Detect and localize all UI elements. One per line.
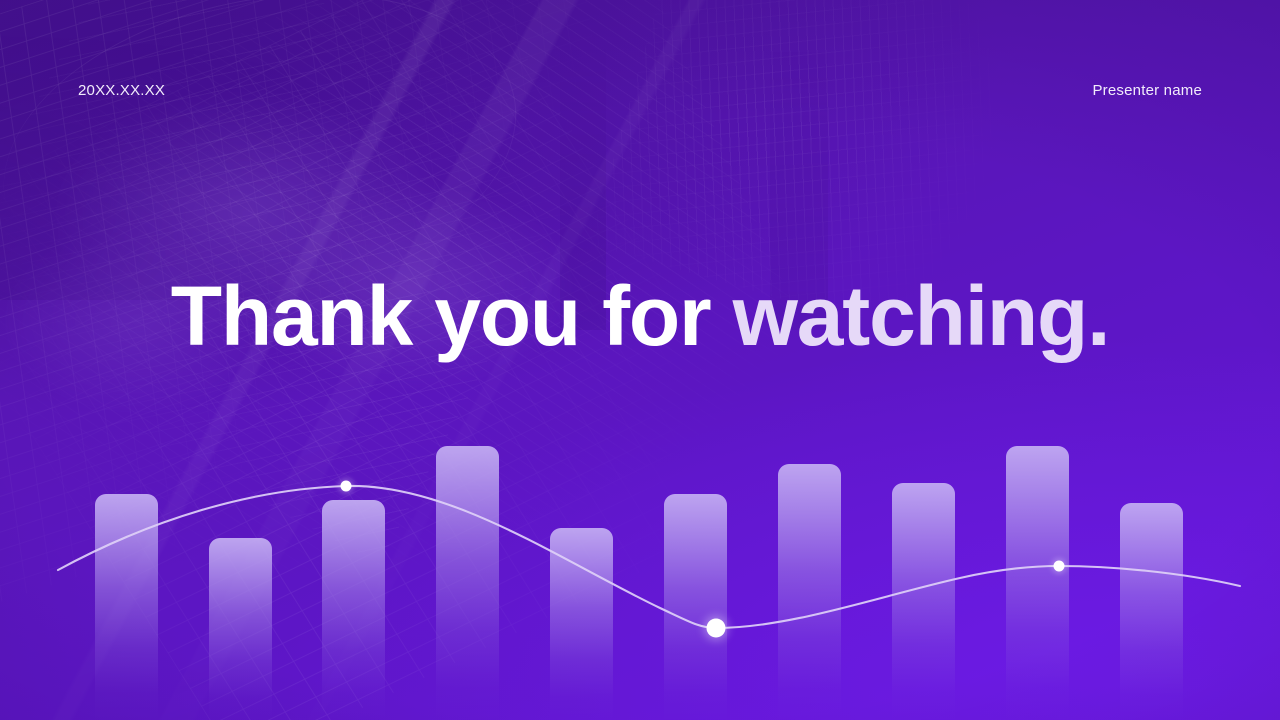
slide: 20XX.XX.XX Presenter name Thank you for …	[0, 0, 1280, 720]
bar-10	[1120, 503, 1183, 720]
title-block: Thank you for watching.	[0, 268, 1280, 364]
page-title: Thank you for watching.	[0, 268, 1280, 364]
bar-6	[664, 494, 727, 720]
bar-3	[322, 500, 385, 720]
bar-7	[778, 464, 841, 720]
bar-4	[436, 446, 499, 720]
bar-2	[209, 538, 272, 720]
bar-5	[550, 528, 613, 720]
bar-8	[892, 483, 955, 720]
trend-marker-3	[1054, 561, 1065, 572]
presenter-name: Presenter name	[1092, 82, 1202, 100]
trend-line-path	[58, 486, 1240, 628]
title-primary: Thank you for	[171, 269, 733, 363]
slide-header: 20XX.XX.XX Presenter name	[0, 0, 1280, 182]
title-secondary: watching.	[733, 269, 1110, 363]
trend-marker-1	[341, 481, 352, 492]
bar-9	[1006, 446, 1069, 720]
slide-date: 20XX.XX.XX	[78, 82, 165, 100]
bar-1	[95, 494, 158, 720]
trend-marker-2	[707, 619, 726, 638]
